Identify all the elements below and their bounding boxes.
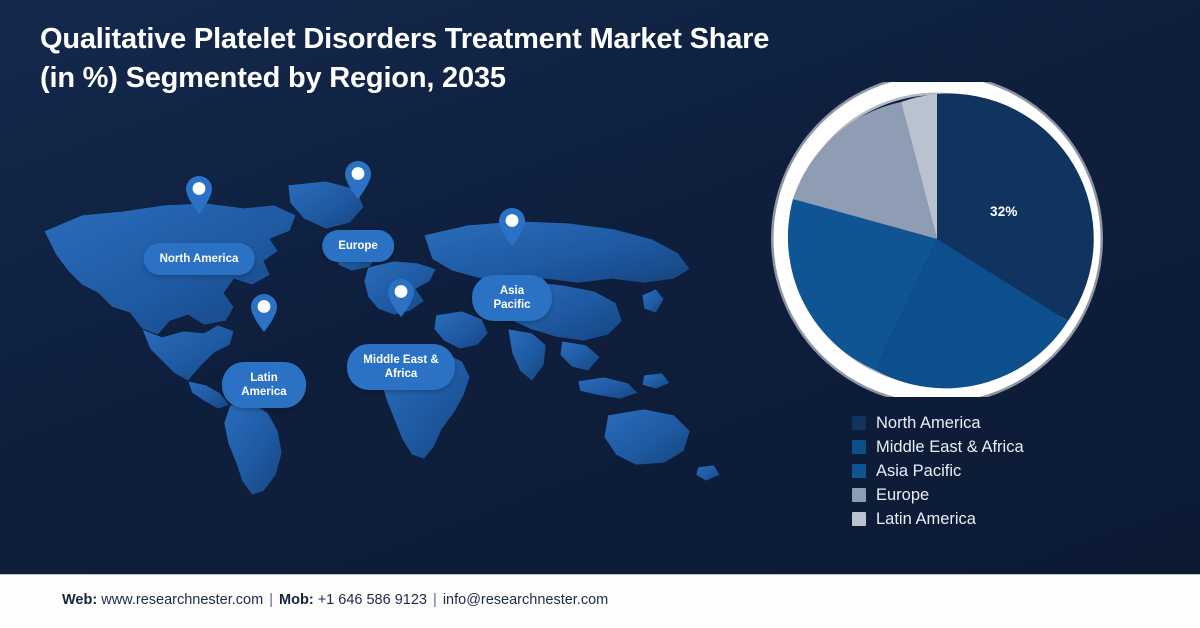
- legend-label: Europe: [876, 487, 929, 504]
- footer-separator-2: |: [431, 592, 439, 608]
- legend-swatch-icon: [852, 416, 866, 430]
- footer-web-value[interactable]: www.researchnester.com: [101, 592, 263, 608]
- world-map: [38, 175, 738, 495]
- map-pin-label: Middle East & Africa: [347, 344, 455, 390]
- pie-data-label-north-america: 32%: [990, 204, 1018, 219]
- legend-label: North America: [876, 415, 981, 432]
- map-pin-label: Latin America: [222, 362, 306, 408]
- location-pin-icon: [184, 175, 214, 215]
- pie-chart: 32%: [762, 82, 1122, 397]
- legend-swatch-icon: [852, 464, 866, 478]
- legend-item-north-america[interactable]: North America: [852, 411, 1024, 435]
- location-pin-icon: [386, 278, 416, 318]
- footer-separator-1: |: [267, 592, 275, 608]
- location-pin-icon: [343, 160, 373, 200]
- page-title: Qualitative Platelet Disorders Treatment…: [40, 20, 810, 99]
- main-panel: Qualitative Platelet Disorders Treatment…: [0, 0, 1200, 574]
- footer-email[interactable]: info@researchnester.com: [443, 592, 608, 608]
- legend-label: Latin America: [876, 511, 976, 528]
- location-pin-icon: [249, 293, 279, 333]
- footer-mob-value[interactable]: +1 646 586 9123: [318, 592, 427, 608]
- chart-legend: North America Middle East & Africa Asia …: [852, 411, 1024, 531]
- legend-item-latin-america[interactable]: Latin America: [852, 507, 1024, 531]
- footer-contact-line: Web: www.researchnester.com | Mob: +1 64…: [62, 592, 608, 608]
- legend-item-europe[interactable]: Europe: [852, 483, 1024, 507]
- legend-item-asia-pacific[interactable]: Asia Pacific: [852, 459, 1024, 483]
- legend-swatch-icon: [852, 488, 866, 502]
- map-pin-label: North America: [144, 243, 255, 275]
- footer-mob-label: Mob:: [279, 592, 314, 608]
- footer-bar: Web: www.researchnester.com | Mob: +1 64…: [0, 574, 1200, 628]
- infographic-root: Qualitative Platelet Disorders Treatment…: [0, 0, 1200, 628]
- footer-web-label: Web:: [62, 592, 97, 608]
- map-pin-label: Asia Pacific: [472, 275, 552, 321]
- location-pin-icon: [497, 207, 527, 247]
- map-pin-label: Europe: [322, 230, 394, 262]
- legend-swatch-icon: [852, 512, 866, 526]
- legend-swatch-icon: [852, 440, 866, 454]
- legend-item-middle-east-africa[interactable]: Middle East & Africa: [852, 435, 1024, 459]
- legend-label: Middle East & Africa: [876, 439, 1024, 456]
- legend-label: Asia Pacific: [876, 463, 961, 480]
